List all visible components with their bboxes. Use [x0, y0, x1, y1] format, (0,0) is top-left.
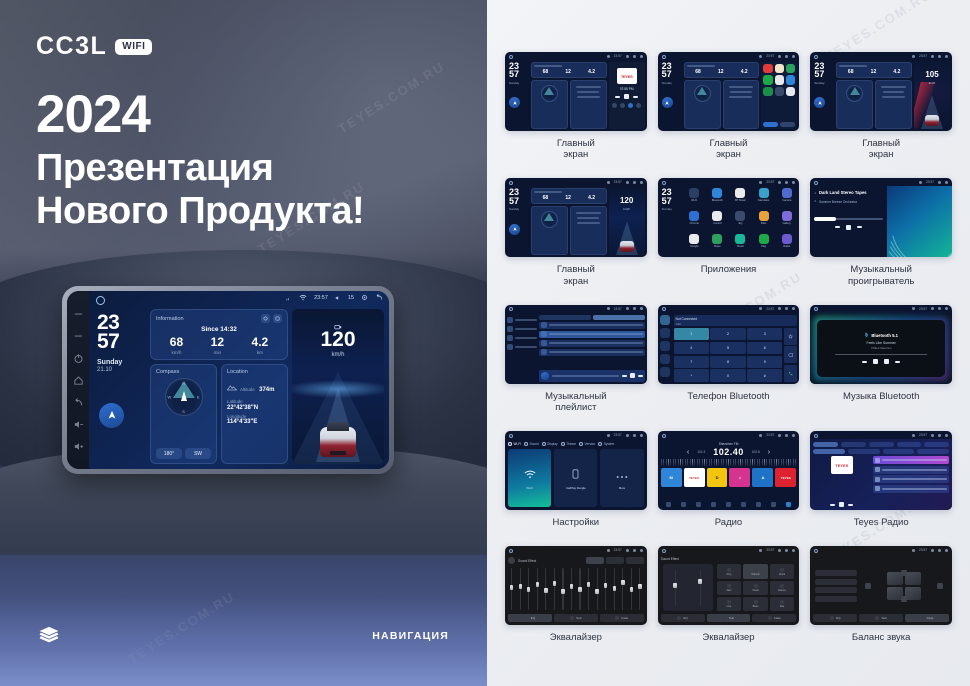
- control-app-icon: [712, 211, 722, 221]
- next-station-icon: ›: [768, 449, 770, 456]
- gallery-item[interactable]: 23:57 23 57 Sunday: [505, 178, 647, 286]
- file-manager-app-icon: [759, 211, 769, 221]
- folder-icon: [507, 344, 513, 350]
- dialpad: 1 2 3 4 5 6 7 8 9 *: [674, 328, 783, 382]
- thumbnail-content: Bluetooth 5.1 Feels Like Summer Chilled …: [810, 313, 952, 384]
- location-latitude-label: Latitude: [227, 399, 282, 404]
- radio-frequency: 102.40: [713, 447, 744, 457]
- gallery-item[interactable]: 23:57 Sound Effect: [658, 546, 800, 643]
- volume-icon: [931, 549, 934, 552]
- mini-compass-dial: [541, 211, 558, 228]
- station-name: [882, 459, 947, 461]
- gear-icon[interactable]: [361, 294, 368, 301]
- call-icon: [784, 365, 797, 382]
- gear-icon: [938, 434, 941, 437]
- information-card[interactable]: Information: [150, 309, 288, 360]
- previous-icon: [622, 375, 627, 377]
- settings-card-label: CarPlay Dongle: [566, 486, 586, 490]
- play-pause-icon: [873, 359, 878, 364]
- settings-tab: Theme: [561, 442, 576, 446]
- tab-label: Fade: [927, 616, 934, 620]
- screen-thumbnail-balance[interactable]: 23:57: [810, 546, 952, 625]
- next-icon: [895, 361, 900, 363]
- app-label: Maps: [714, 245, 720, 248]
- music-app-icon: [735, 234, 745, 244]
- power-icon[interactable]: [73, 353, 84, 364]
- track-subtitle: Summer Breeze Orchestra: [819, 200, 857, 204]
- app-label: Google: [690, 245, 698, 248]
- loc-icon: [741, 502, 746, 507]
- balance-preset: [815, 596, 857, 602]
- signal-icon: [607, 307, 610, 310]
- mini-compass-card: [531, 80, 568, 129]
- gallery-item[interactable]: TEYES: [810, 431, 952, 528]
- app-label: Chrome: [690, 222, 699, 225]
- teyes-radio-subtab: [848, 449, 880, 454]
- gallery-item-caption: Teyes Радио: [854, 517, 909, 528]
- search-icon: [681, 502, 686, 507]
- mic-icon[interactable]: [73, 331, 84, 342]
- track-thumb: [541, 322, 547, 328]
- eq-knob: [621, 580, 624, 585]
- radio-preset: ♫: [729, 468, 750, 487]
- rds-icon: [726, 502, 731, 507]
- clock-minutes: 57: [97, 332, 146, 351]
- mini-media-time: 07:55 PM: [620, 87, 634, 91]
- teyes-radio-tabs: [813, 442, 949, 447]
- thumbnail-content: Wi-Fi Sound Display Theme Version System: [505, 439, 647, 510]
- car-avatar: [620, 241, 634, 252]
- navigation-arrow-icon[interactable]: [99, 403, 124, 428]
- eq-knob: [595, 589, 598, 594]
- mini-clock-minutes: 57: [662, 197, 682, 205]
- footer-tab: Sub: [554, 614, 598, 622]
- mini-line: [577, 96, 600, 98]
- mini-pill: [780, 122, 795, 127]
- bt-music-card: Bluetooth 5.1 Feels Like Summer Chilled …: [817, 320, 945, 377]
- gallery-item[interactable]: 23:57 1 Dark Land Stereo Tapes 2: [810, 178, 952, 286]
- location-altitude-row: Altitude 374m: [227, 378, 282, 396]
- navigation-speed-widget[interactable]: 120 km/h: [292, 309, 384, 464]
- gear-icon: [633, 55, 636, 58]
- refresh-icon[interactable]: [261, 314, 270, 323]
- stop-icon: [624, 94, 629, 99]
- eq-knob: [527, 587, 530, 592]
- app-item: Music: [730, 234, 751, 255]
- radio-tuner-scale: [661, 459, 797, 466]
- eq-band: [519, 568, 522, 610]
- thumbnail-status-bar: 23:57: [658, 305, 800, 313]
- balance-right-button: [937, 583, 943, 589]
- gallery-item[interactable]: 23:57 23 57 Sunday: [658, 52, 800, 160]
- mini-clock: 23 57 Sunday: [660, 188, 682, 255]
- headline-line-1: Презентация: [36, 147, 364, 190]
- stat-value: 68: [170, 336, 183, 348]
- mini-stat: 4.2: [588, 69, 595, 75]
- gear-icon: [785, 549, 788, 552]
- thumbnail-status-bar: 23:57: [505, 431, 647, 439]
- dial-key: 8: [710, 356, 745, 368]
- mini-clock-minutes: 57: [814, 70, 834, 78]
- mini-media-controls: [615, 94, 638, 99]
- eq-knob: [578, 587, 581, 592]
- track-title: [549, 333, 643, 335]
- bluetooth-icon: [864, 332, 869, 339]
- eq-icon: [756, 502, 761, 507]
- effect-button: Dance: [770, 581, 795, 595]
- hero-panel: TEYES.COM.RU TEYES.COM.RU TEYES.COM.RU C…: [0, 0, 487, 686]
- compass-needle: [181, 391, 187, 401]
- balance-preset: [815, 587, 857, 593]
- app-item: Play: [753, 234, 774, 255]
- thumbnail-status-bar: 23:57: [505, 546, 647, 554]
- gear-icon: [633, 181, 636, 184]
- effect-icon: [754, 568, 758, 572]
- phone-main: Not Connected Call 1 2 3 4 5: [674, 315, 798, 382]
- compass-readouts: 180° SW: [156, 448, 211, 459]
- app-label: Music: [737, 245, 744, 248]
- settings-tabs: Wi-Fi Sound Display Theme Version System: [508, 442, 644, 446]
- next-icon: [633, 96, 638, 98]
- gallery-item[interactable]: 23:57: [810, 546, 952, 643]
- gallery-item-caption: Главный экран: [710, 138, 748, 160]
- playlist-row: [539, 331, 645, 338]
- library-icon: [507, 317, 513, 323]
- teyes-radio-subtabs: [813, 449, 949, 454]
- gallery-item[interactable]: 23:57 Sound Effect: [505, 546, 647, 643]
- station-name: [882, 469, 947, 471]
- equalizer-app-icon: [735, 211, 745, 221]
- signal-icon: [759, 55, 762, 58]
- tab-label: Wi-Fi: [514, 442, 521, 446]
- gallery-item-caption: Эквалайзер: [550, 632, 602, 643]
- widgets-column: Information: [150, 309, 288, 464]
- speed-value: 120: [292, 329, 384, 350]
- app-icon: [763, 75, 772, 84]
- radio-frequency-row: ‹ 101.3 102.40 103.5 ›: [661, 447, 797, 457]
- phone-status-display: Not Connected Call: [674, 315, 798, 326]
- signal-icon: [912, 434, 915, 437]
- home-circle-icon[interactable]: [96, 296, 105, 305]
- home-icon[interactable]: [73, 375, 84, 386]
- teyes-radio-tab: [897, 442, 922, 447]
- teyes-radio-tab: [924, 442, 949, 447]
- app-label: EQ: [739, 222, 743, 225]
- mini-clock: 23 57 Sunday: [507, 62, 529, 129]
- signal-icon: [759, 181, 762, 184]
- location-card[interactable]: Location Altitude 374m: [221, 364, 288, 464]
- mini-speed-value: 120: [609, 196, 645, 205]
- mini-line: [729, 86, 754, 88]
- back-arrow-icon: [945, 55, 948, 58]
- teyes-radio-subtab: [917, 449, 949, 454]
- effect-button: Vocal: [743, 581, 768, 595]
- footer-tab: Fade: [752, 614, 796, 622]
- phone-actions: [784, 328, 797, 382]
- station-name: [882, 488, 947, 490]
- mini-stat: 68: [543, 195, 549, 201]
- effect-button: Pop: [717, 564, 742, 578]
- list-icon: [696, 502, 701, 507]
- gallery-item[interactable]: 23:57: [658, 305, 800, 413]
- volume-icon: [335, 295, 341, 301]
- playlist-main: [539, 315, 645, 382]
- gallery-item[interactable]: 23:57 23 57 Sunday Wi-Fi Bluet: [658, 178, 800, 286]
- subwoofer-sliders: [663, 564, 713, 611]
- chrome-app-icon: [689, 211, 699, 221]
- screens-gallery-panel: TEYES.COM.RU TEYES.COM.RU TEYES.COM.RU 2…: [487, 0, 970, 686]
- eq-track: [554, 568, 555, 610]
- track-title: [549, 342, 643, 344]
- stat-unit: min: [211, 350, 224, 355]
- track-row: 1 Dark Land Stereo Tapes: [814, 190, 883, 195]
- eq-knob: [604, 583, 607, 588]
- settings-tab: System: [598, 442, 614, 446]
- eq-knob: [519, 584, 522, 589]
- location-longitude-label: Longitude: [227, 414, 282, 419]
- screen-thumbnail-equalizer-2[interactable]: 23:57 Sound Effect: [658, 546, 800, 625]
- expand-icon[interactable]: [273, 314, 282, 323]
- music-player-panel: 1 Dark Land Stereo Tapes 2 Summer Breeze…: [810, 186, 887, 257]
- screen-thumbnail-home-media[interactable]: 23:57 23 57 Sunday: [505, 52, 647, 131]
- tab-label: Theme: [566, 442, 576, 446]
- tab-icon: [525, 616, 529, 620]
- eq-track: [605, 568, 606, 610]
- tab-icon: [524, 442, 528, 446]
- gallery-item[interactable]: 23:57: [505, 305, 647, 413]
- mini-widgets: 68 12 4.2: [684, 62, 760, 129]
- compass-card[interactable]: Compass N E S W: [150, 364, 217, 464]
- back-arrow-icon[interactable]: [375, 294, 383, 301]
- mini-line: [577, 91, 599, 93]
- gear-icon: [633, 434, 636, 437]
- thumbnail-status-bar: 23:57: [810, 52, 952, 60]
- compass-label-e: E: [197, 395, 200, 400]
- stat-item: 4.2 km: [252, 336, 269, 355]
- back-arrow-icon: [792, 434, 795, 437]
- screen-thumbnail-playlist[interactable]: 23:57: [505, 305, 647, 384]
- mini-compass-card: [836, 80, 873, 129]
- effect-label: Pop: [727, 573, 732, 576]
- eq-knob: [638, 584, 641, 589]
- mini-apps-grid: [763, 64, 795, 96]
- mini-clock-day: Sunday: [814, 82, 834, 86]
- sidebar-item: [507, 344, 537, 350]
- compass-label-n: N: [182, 381, 185, 386]
- search-icon: [507, 326, 513, 332]
- thumbnail-content: Not Connected Call 1 2 3 4 5: [658, 313, 800, 384]
- tab-icon: [677, 616, 681, 620]
- stop-icon: [839, 502, 844, 507]
- back-icon[interactable]: [73, 397, 84, 408]
- bluetooth-app-icon: [712, 188, 722, 198]
- gallery-item[interactable]: 23:57 Shenzhen FM ‹ 101.3 102.40 103.5 ›: [658, 431, 800, 528]
- back-arrow-icon: [640, 55, 643, 58]
- wifi-badge: WIFI: [115, 39, 152, 55]
- app-icon: [775, 64, 784, 73]
- sidebar-label: [515, 328, 537, 330]
- mini-location-card: [570, 206, 607, 255]
- screen-thumbnail-radio[interactable]: 23:57 Shenzhen FM ‹ 101.3 102.40 103.5 ›: [658, 431, 800, 510]
- thumbnail-status-bar: 23:57: [810, 431, 952, 439]
- album-art: TEYES: [831, 456, 853, 474]
- screen-thumbnail-home-navi-red[interactable]: 23:57 23 57 Sunday: [810, 52, 952, 131]
- volume-icon: [626, 181, 629, 184]
- stat-value: 12: [211, 336, 224, 348]
- app-item: Wi-Fi: [684, 188, 705, 209]
- mini-compass-dial: [846, 85, 863, 102]
- playlist-tab: [539, 315, 591, 320]
- radio-band-name: Shenzhen FM: [661, 442, 797, 446]
- app-icon: [786, 75, 795, 84]
- eq-band: [587, 568, 590, 610]
- effect-label: Dance: [778, 589, 786, 592]
- station-row: [873, 456, 949, 464]
- mini-secondary-row: [531, 80, 607, 129]
- tab-label: Sub: [881, 616, 886, 620]
- mini-clock-day: Sunday: [509, 82, 529, 86]
- gear-icon: [938, 181, 941, 184]
- radio-presets: M TEYES D ♫ A TEYES: [661, 468, 797, 487]
- location-latitude-row: Latitude 22°42'38"N: [227, 399, 282, 411]
- balance-preset: [815, 579, 857, 585]
- mini-line: [882, 96, 905, 98]
- gallery-item-caption: Главный экран: [557, 138, 595, 160]
- balance-down-button: [901, 596, 907, 602]
- gallery-item[interactable]: 23:57 Wi-Fi Sound Display Theme Version …: [505, 431, 647, 528]
- previous-icon: [835, 226, 840, 228]
- thumbnail-time: 23:57: [766, 54, 774, 58]
- shortcut-dot: [628, 103, 633, 108]
- app-item: Google: [684, 234, 705, 255]
- thumbnail-content: EQ Sub Fade: [810, 554, 952, 625]
- eq-band: [613, 568, 616, 610]
- phone-status-text: Not Connected: [676, 317, 796, 321]
- eq-knob: [587, 582, 590, 587]
- playback-controls: [814, 225, 883, 230]
- playlist-sidebar: [507, 315, 537, 382]
- mini-stats: 68 12 4.2: [687, 69, 757, 75]
- gallery-item[interactable]: Bluetooth 5.1 Feels Like Summer Chilled …: [810, 305, 952, 413]
- effect-button: Live: [717, 597, 742, 611]
- effect-icon: [780, 600, 784, 604]
- speaker-front-right: [905, 572, 921, 585]
- location-longitude-row: Longitude 114°4'33"E: [227, 414, 282, 426]
- stat-value: 4.2: [252, 336, 269, 348]
- dial-key: *: [674, 369, 709, 381]
- eq-track: [571, 568, 572, 610]
- sidebar-item: [507, 335, 537, 341]
- status-volume-level: 15: [348, 295, 354, 301]
- station-thumb: [875, 477, 880, 482]
- screen-thumbnail-equalizer[interactable]: 23:57 Sound Effect: [505, 546, 647, 625]
- back-arrow-icon: [640, 434, 643, 437]
- signal-icon: [759, 549, 762, 552]
- volume-icon: [778, 55, 781, 58]
- tab-label: EQ: [531, 616, 535, 620]
- thumbnail-status-bar: 23:57: [810, 178, 952, 186]
- mini-line: [577, 222, 600, 224]
- balance-footer: EQ Sub Fade: [813, 614, 949, 622]
- preset-icon: [508, 557, 515, 564]
- mic-icon[interactable]: [73, 309, 84, 320]
- effect-label: Rock: [779, 573, 785, 576]
- tab-label: Sub: [729, 616, 734, 620]
- previous-icon: [862, 361, 867, 363]
- screen-thumbnail-music-player[interactable]: 23:57 1 Dark Land Stereo Tapes 2: [810, 178, 952, 257]
- screen-thumbnail-home-apps[interactable]: 23:57 23 57 Sunday: [658, 52, 800, 131]
- settings-tab: Wi-Fi: [508, 442, 521, 446]
- screen-thumbnail-bt-phone[interactable]: 23:57: [658, 305, 800, 384]
- thumbnail-time: 23:57: [919, 307, 927, 311]
- radio-app-icon: [782, 234, 792, 244]
- app-label: Control: [713, 222, 721, 225]
- equalizer-header: Sound Effect: [508, 557, 644, 564]
- radio-right-label: 103.5: [752, 450, 760, 454]
- clock-widget: 23 57 Sunday 21.10: [94, 309, 146, 464]
- compass-card-title: Compass: [156, 369, 211, 375]
- sidebar-label: [515, 337, 537, 339]
- mini-information-card: 68 12 4.2: [531, 62, 607, 78]
- mini-stat: 12: [565, 69, 571, 75]
- stat-item: 68 km/h: [170, 336, 183, 355]
- information-card-actions: [261, 314, 282, 323]
- head-unit-screen[interactable]: 23:57 15 23: [89, 291, 389, 469]
- screen-thumbnail-settings[interactable]: 23:57 Wi-Fi Sound Display Theme Version …: [505, 431, 647, 510]
- app-label: Play: [761, 245, 766, 248]
- back-arrow-icon: [792, 181, 795, 184]
- mini-secondary-row: [531, 206, 607, 255]
- eq-band: [578, 568, 581, 610]
- gallery-item[interactable]: 23:57 23 57 Sunday: [505, 52, 647, 160]
- playlist-tabs: [539, 315, 645, 320]
- mini-clock-day: Sunday: [662, 208, 682, 212]
- sidebar-item: [507, 317, 537, 323]
- screen-thumbnail-home-navi[interactable]: 23:57 23 57 Sunday: [505, 178, 647, 257]
- volume-down-icon[interactable]: [73, 419, 84, 430]
- gallery-item[interactable]: 23:57 23 57 Sunday: [810, 52, 952, 160]
- eq-band: [553, 568, 556, 610]
- tab-icon: [570, 616, 574, 620]
- tab-icon: [921, 616, 925, 620]
- thumbnail-content: [505, 313, 647, 384]
- progress-bar: [835, 354, 927, 355]
- screen-thumbnail-teyes-radio[interactable]: TEYES: [810, 431, 952, 510]
- effect-icon: [727, 568, 731, 572]
- thumbnail-content: 23 57 Sunday 68: [810, 60, 952, 131]
- next-icon: [638, 375, 643, 377]
- mini-apps-widget: [761, 62, 797, 129]
- thumbnail-time: 23:57: [614, 54, 622, 58]
- tab-icon: [875, 616, 879, 620]
- gallery-item-caption: Музыкальный плейлист: [545, 391, 606, 413]
- compass-label-w: W: [168, 395, 172, 400]
- volume-up-icon[interactable]: [73, 441, 84, 452]
- app-icon: [763, 64, 772, 73]
- app-item: Radio: [776, 234, 797, 255]
- volume-icon: [931, 307, 934, 310]
- screen-thumbnail-bt-music[interactable]: Bluetooth 5.1 Feels Like Summer Chilled …: [810, 305, 952, 384]
- screen-thumbnail-apps[interactable]: 23:57 23 57 Sunday Wi-Fi Bluet: [658, 178, 800, 257]
- compass-label-s: S: [182, 409, 185, 414]
- tab-icon: [830, 616, 834, 620]
- signal-icon: [286, 295, 292, 301]
- mini-compass-dial: [694, 85, 711, 102]
- dial-key: 1: [674, 328, 709, 340]
- effect-label: Classic: [751, 573, 759, 576]
- radio-preset: D: [707, 468, 728, 487]
- mini-stat: 12: [718, 69, 724, 75]
